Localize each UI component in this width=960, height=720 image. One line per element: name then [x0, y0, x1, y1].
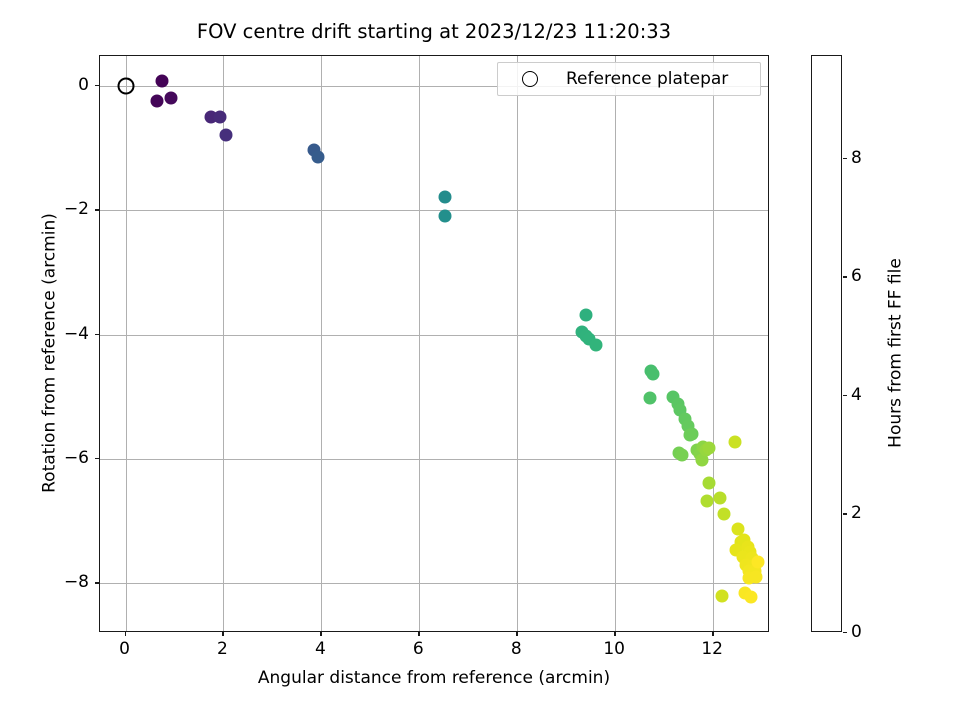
scatter-point [647, 368, 660, 381]
legend-item-label: Reference platepar [566, 69, 728, 89]
x-tick [614, 632, 615, 636]
gridline-horizontal [100, 459, 768, 460]
colorbar-tick [843, 276, 847, 277]
scatter-point [675, 448, 688, 461]
scatter-point [714, 491, 727, 504]
x-tick [516, 632, 517, 636]
gridline-vertical [517, 56, 518, 631]
legend-open-circle-icon [522, 71, 538, 87]
reference-platepar-marker [117, 77, 134, 94]
x-tick [320, 632, 321, 636]
scatter-point [750, 571, 763, 584]
x-tick-label: 8 [511, 639, 522, 659]
x-tick [418, 632, 419, 636]
scatter-point [156, 74, 169, 87]
y-tick-label: −8 [64, 572, 89, 592]
colorbar-gradient [812, 56, 841, 631]
y-tick [95, 209, 99, 210]
colorbar-tick [843, 395, 847, 396]
y-tick [95, 458, 99, 459]
x-tick-label: 0 [119, 639, 130, 659]
gridline-vertical [126, 56, 127, 631]
colorbar-tick [843, 632, 847, 633]
gridline-horizontal [100, 335, 768, 336]
x-tick [125, 632, 126, 636]
x-tick-label: 12 [701, 639, 723, 659]
scatter-point [151, 95, 164, 108]
scatter-point [701, 495, 714, 508]
y-tick [95, 85, 99, 86]
y-tick [95, 582, 99, 583]
colorbar [811, 55, 842, 632]
gridline-horizontal [100, 210, 768, 211]
y-axis-label: Rotation from reference (arcmin) [40, 65, 60, 642]
matplotlib-figure: FOV centre drift starting at 2023/12/23 … [0, 0, 960, 720]
scatter-point [438, 190, 451, 203]
y-tick [95, 334, 99, 335]
scatter-point [213, 110, 226, 123]
scatter-point [703, 476, 716, 489]
colorbar-tick [843, 158, 847, 159]
colorbar-tick-label: 4 [851, 385, 862, 405]
x-tick [712, 632, 713, 636]
scatter-point [219, 129, 232, 142]
gridline-vertical [713, 56, 714, 631]
scatter-point [438, 210, 451, 223]
scatter-point [703, 442, 716, 455]
x-tick-label: 2 [217, 639, 228, 659]
colorbar-tick-label: 6 [851, 266, 862, 286]
scatter-point [752, 556, 765, 569]
gridline-vertical [419, 56, 420, 631]
gridline-vertical [321, 56, 322, 631]
colorbar-tick-label: 0 [851, 622, 862, 642]
colorbar-label: Hours from first FF file [886, 65, 906, 642]
y-tick-label: 0 [78, 75, 89, 95]
scatter-point [683, 429, 696, 442]
x-axis-label: Angular distance from reference (arcmin) [99, 668, 769, 688]
scatter-point [643, 392, 656, 405]
x-tick-label: 6 [413, 639, 424, 659]
plot-area [99, 55, 769, 632]
colorbar-tick [843, 513, 847, 514]
scatter-point [718, 507, 731, 520]
y-tick-label: −4 [64, 324, 89, 344]
x-tick-label: 4 [315, 639, 326, 659]
y-tick-label: −6 [64, 448, 89, 468]
gridline-vertical [223, 56, 224, 631]
x-tick [222, 632, 223, 636]
scatter-point [745, 590, 758, 603]
scatter-point [311, 150, 324, 163]
gridline-horizontal [100, 583, 768, 584]
legend: Reference platepar [497, 62, 761, 96]
scatter-point [164, 92, 177, 105]
scatter-point [589, 338, 602, 351]
colorbar-tick-label: 2 [851, 503, 862, 523]
scatter-point [728, 436, 741, 449]
colorbar-tick-label: 8 [851, 148, 862, 168]
gridline-vertical [615, 56, 616, 631]
page-title: FOV centre drift starting at 2023/12/23 … [99, 20, 769, 43]
y-tick-label: −2 [64, 199, 89, 219]
x-tick-label: 10 [603, 639, 625, 659]
scatter-point [579, 308, 592, 321]
scatter-point [716, 589, 729, 602]
